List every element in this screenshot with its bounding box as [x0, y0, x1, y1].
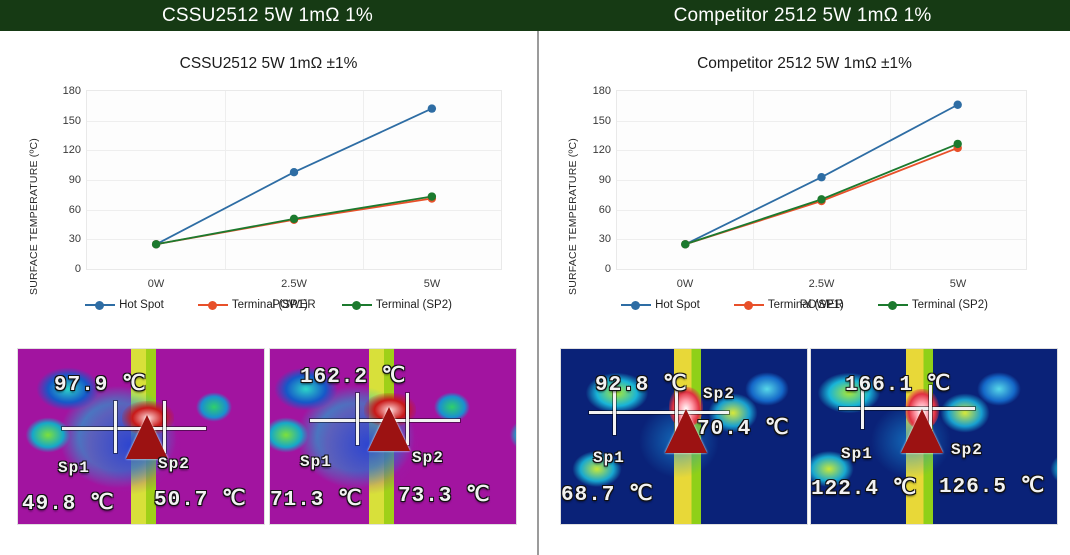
y-tick: 180 — [63, 85, 81, 97]
spot-marker-icon — [126, 415, 168, 459]
hotspot-reading: 166.1 ℃ — [845, 371, 951, 397]
y-tick: 180 — [593, 85, 611, 97]
sp2-reading: 70.4 ℃ — [697, 415, 790, 441]
sp1-label: Sp1 — [841, 445, 873, 463]
y-axis-label: SURFACE TEMPERATURE (ºC) — [26, 126, 42, 306]
header-banner-right: Competitor 2512 5W 1mΩ 1% — [535, 0, 1070, 31]
spot-marker-icon — [368, 407, 410, 451]
x-tick: 0W — [677, 278, 694, 290]
legend-label: Terminal (SP2) — [376, 299, 452, 311]
sp2-label: Sp2 — [158, 455, 190, 473]
legend-label: Terminal (SP1) — [768, 299, 844, 311]
legend-label: Hot Spot — [119, 299, 164, 311]
legend-swatch-icon — [198, 299, 228, 311]
sp1-reading: 49.8 ℃ — [22, 490, 115, 516]
header-title-right: Competitor 2512 5W 1mΩ 1% — [674, 5, 932, 27]
hotspot-reading: 92.8 ℃ — [595, 371, 688, 397]
chart-cssu2512: CSSU2512 5W 1mΩ ±1% SURFACE TEMPERATURE … — [0, 31, 537, 346]
legend-item-terminal-sp1[interactable]: Terminal (SP1) — [198, 299, 308, 311]
thermal-image: 97.9 ℃ Sp1 Sp2 49.8 ℃ 50.7 ℃ — [18, 349, 264, 524]
x-tick: 2.5W — [809, 278, 835, 290]
sp2-label: Sp2 — [703, 385, 735, 403]
sp2-label: Sp2 — [412, 449, 444, 467]
hotspot-reading: 162.2 ℃ — [300, 363, 406, 389]
x-tick: 5W — [424, 278, 441, 290]
chart-legend: Hot Spot Terminal (SP1) Terminal (SP2) — [0, 299, 537, 311]
sp1-reading: 122.4 ℃ — [811, 475, 917, 501]
legend-swatch-icon — [85, 299, 115, 311]
sp2-reading: 126.5 ℃ — [939, 473, 1045, 499]
header-banner-left: CSSU2512 5W 1mΩ 1% — [0, 0, 535, 31]
spot-marker-icon — [901, 409, 943, 453]
x-tick: 2.5W — [281, 278, 307, 290]
y-tick: 30 — [69, 233, 81, 245]
y-tick: 30 — [599, 233, 611, 245]
panel-competitor: Competitor 2512 5W 1mΩ ±1% SURFACE TEMPE… — [539, 31, 1070, 555]
plot-area: 180 150 120 90 60 30 0 0W 2.5W 5W POWER — [616, 90, 1027, 270]
sp1-label: Sp1 — [300, 453, 332, 471]
thermal-images-right: 92.8 ℃ Sp2 70.4 ℃ Sp1 68.7 ℃ 166.1 ℃ Sp1… — [539, 349, 1070, 549]
header-title-left: CSSU2512 5W 1mΩ 1% — [162, 5, 373, 27]
y-axis-label: SURFACE TEMPERATURE (ºC) — [565, 126, 581, 306]
legend-label: Terminal (SP2) — [912, 299, 988, 311]
series-lines — [87, 91, 501, 269]
chart-title: CSSU2512 5W 1mΩ ±1% — [0, 55, 537, 73]
thermal-image: 92.8 ℃ Sp2 70.4 ℃ Sp1 68.7 ℃ — [561, 349, 807, 524]
legend-swatch-icon — [342, 299, 372, 311]
sp1-label: Sp1 — [58, 459, 90, 477]
y-tick: 120 — [63, 144, 81, 156]
plot-area: 180 150 120 90 60 30 0 0W 2.5W 5W POWER — [86, 90, 502, 270]
legend-item-terminal-sp1[interactable]: Terminal (SP1) — [734, 299, 844, 311]
chart-competitor: Competitor 2512 5W 1mΩ ±1% SURFACE TEMPE… — [539, 31, 1070, 346]
y-tick: 150 — [593, 115, 611, 127]
y-tick: 60 — [599, 204, 611, 216]
legend-item-terminal-sp2[interactable]: Terminal (SP2) — [878, 299, 988, 311]
y-tick: 0 — [605, 263, 611, 275]
y-tick: 90 — [69, 174, 81, 186]
sp2-reading: 73.3 ℃ — [398, 482, 491, 508]
y-tick: 120 — [593, 144, 611, 156]
comparison-page: CSSU2512 5W 1mΩ 1% Competitor 2512 5W 1m… — [0, 0, 1070, 555]
sp1-reading: 71.3 ℃ — [270, 486, 363, 512]
x-tick: 0W — [148, 278, 165, 290]
sp1-label: Sp1 — [593, 449, 625, 467]
legend-label: Hot Spot — [655, 299, 700, 311]
chart-legend: Hot Spot Terminal (SP1) Terminal (SP2) — [539, 299, 1070, 311]
legend-item-hot-spot[interactable]: Hot Spot — [621, 299, 700, 311]
thermal-image: 162.2 ℃ Sp1 Sp2 71.3 ℃ 73.3 ℃ — [270, 349, 516, 524]
x-tick: 5W — [950, 278, 967, 290]
legend-swatch-icon — [878, 299, 908, 311]
series-lines — [617, 91, 1026, 269]
y-tick: 0 — [75, 263, 81, 275]
thermal-images-left: 97.9 ℃ Sp1 Sp2 49.8 ℃ 50.7 ℃ 162.2 ℃ Sp1… — [0, 349, 537, 549]
legend-item-hot-spot[interactable]: Hot Spot — [85, 299, 164, 311]
panel-cssu2512: CSSU2512 5W 1mΩ ±1% SURFACE TEMPERATURE … — [0, 31, 537, 555]
legend-swatch-icon — [621, 299, 651, 311]
sp1-reading: 68.7 ℃ — [561, 481, 654, 507]
sp2-label: Sp2 — [951, 441, 983, 459]
hotspot-reading: 97.9 ℃ — [54, 371, 147, 397]
sp2-reading: 50.7 ℃ — [154, 486, 247, 512]
legend-label: Terminal (SP1) — [232, 299, 308, 311]
thermal-image: 166.1 ℃ Sp1 Sp2 122.4 ℃ 126.5 ℃ — [811, 349, 1057, 524]
y-tick: 90 — [599, 174, 611, 186]
chart-title: Competitor 2512 5W 1mΩ ±1% — [539, 55, 1070, 73]
y-tick: 150 — [63, 115, 81, 127]
legend-item-terminal-sp2[interactable]: Terminal (SP2) — [342, 299, 452, 311]
y-tick: 60 — [69, 204, 81, 216]
legend-swatch-icon — [734, 299, 764, 311]
